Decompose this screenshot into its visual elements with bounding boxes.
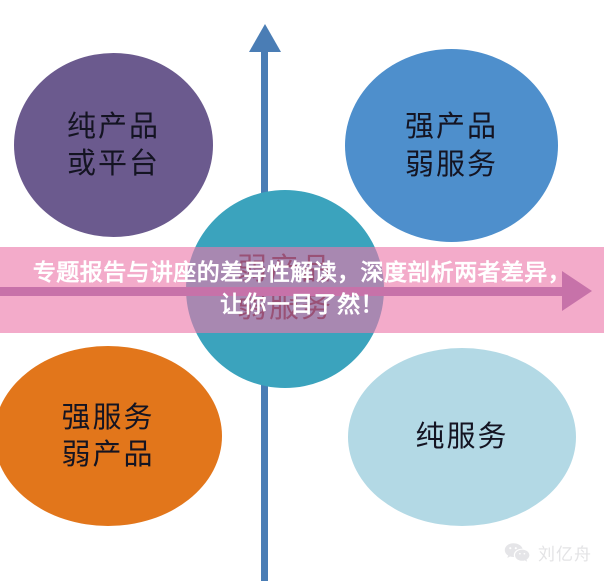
bubble-label-line: 纯服务	[415, 418, 508, 455]
up-arrow-icon	[249, 24, 281, 52]
quadrant-bubble-top-left: 纯产品 或平台	[14, 53, 213, 237]
title-banner: 专题报告与讲座的差异性解读，深度剖析两者差异，让你一目了然！	[0, 247, 604, 333]
bubble-label-line: 纯产品	[67, 108, 160, 145]
bubble-label-line: 或平台	[67, 145, 160, 182]
banner-title-text: 专题报告与讲座的差异性解读，深度剖析两者差异，让你一目了然！	[22, 258, 582, 321]
watermark: 刘亿舟	[504, 540, 592, 565]
bubble-label-line: 弱产品	[61, 436, 154, 473]
bubble-label-line: 强产品	[405, 108, 498, 145]
bubble-label-line: 弱服务	[405, 146, 498, 183]
quadrant-bubble-top-right: 强产品 弱服务	[345, 49, 558, 242]
diagram-canvas: 纯产品 或平台 强产品 弱服务 弱产品 弱服务 强服务 弱产品 纯服务 专题报告…	[0, 0, 604, 581]
quadrant-bubble-bottom-right: 纯服务	[348, 348, 576, 526]
bubble-label-line: 强服务	[61, 399, 154, 436]
quadrant-bubble-bottom-left: 强服务 弱产品	[0, 346, 222, 526]
wechat-icon	[504, 542, 530, 564]
watermark-account-name: 刘亿舟	[538, 540, 592, 565]
